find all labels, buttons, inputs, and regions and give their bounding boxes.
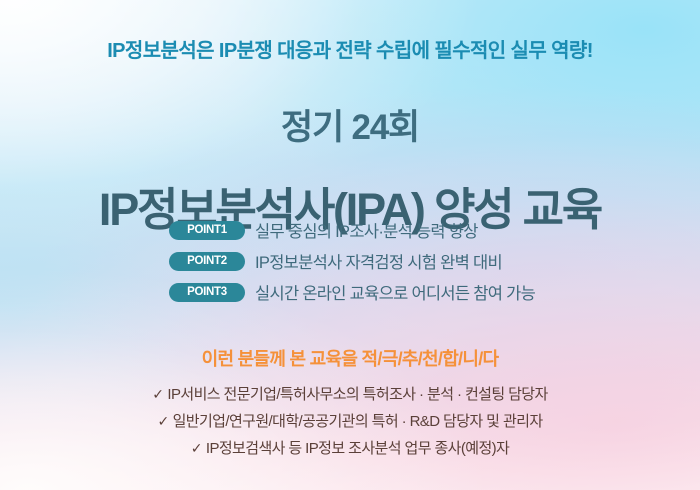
point-badge: POINT2 — [169, 252, 245, 271]
point-item: POINT2 IP정보분석사 자격검정 시험 완벽 대비 — [169, 249, 531, 273]
target-list-item: ✓일반기업/연구원/대학/공공기관의 특허 · R&D 담당자 및 관리자 — [157, 410, 542, 431]
check-icon: ✓ — [157, 413, 168, 430]
target-audience-list: ✓IP서비스 전문기업/특허사무소의 특허조사 · 분석 · 컨설팅 담당자 ✓… — [0, 383, 700, 458]
target-audience-heading: 이런 분들께 본 교육을 적/극/추/천/합/니/다 — [0, 345, 700, 371]
point-item: POINT3 실시간 온라인 교육으로 어디서든 참여 가능 — [169, 280, 531, 304]
banner-kicker-text: IP정보분석은 IP분쟁 대응과 전략 수립에 필수적인 실무 역량! — [0, 34, 700, 63]
point-description: 실무 중심의 IP조사·분석 능력 향상 — [255, 218, 531, 242]
point-list: POINT1 실무 중심의 IP조사·분석 능력 향상 POINT2 IP정보분… — [0, 218, 700, 304]
target-list-item: ✓IP서비스 전문기업/특허사무소의 특허조사 · 분석 · 컨설팅 담당자 — [152, 383, 547, 404]
target-list-item: ✓IP정보검색사 등 IP정보 조사분석 업무 종사(예정)자 — [191, 437, 510, 458]
point-description: IP정보분석사 자격검정 시험 완벽 대비 — [255, 249, 531, 273]
point-badge: POINT3 — [169, 283, 245, 302]
banner-session-number: 정기 24회 — [0, 99, 700, 150]
point-item: POINT1 실무 중심의 IP조사·분석 능력 향상 — [169, 218, 531, 242]
target-list-item-label: IP정보검색사 등 IP정보 조사분석 업무 종사(예정)자 — [206, 440, 509, 457]
point-description: 실시간 온라인 교육으로 어디서든 참여 가능 — [255, 280, 535, 304]
point-badge: POINT1 — [169, 221, 245, 240]
promo-banner: IP정보분석은 IP분쟁 대응과 전략 수립에 필수적인 실무 역량! 정기 2… — [0, 0, 700, 490]
check-icon: ✓ — [191, 440, 202, 457]
target-list-item-label: IP서비스 전문기업/특허사무소의 특허조사 · 분석 · 컨설팅 담당자 — [167, 386, 547, 403]
target-list-item-label: 일반기업/연구원/대학/공공기관의 특허 · R&D 담당자 및 관리자 — [173, 413, 543, 430]
check-icon: ✓ — [152, 386, 163, 403]
banner-content: IP정보분석은 IP분쟁 대응과 전략 수립에 필수적인 실무 역량! 정기 2… — [0, 0, 700, 490]
